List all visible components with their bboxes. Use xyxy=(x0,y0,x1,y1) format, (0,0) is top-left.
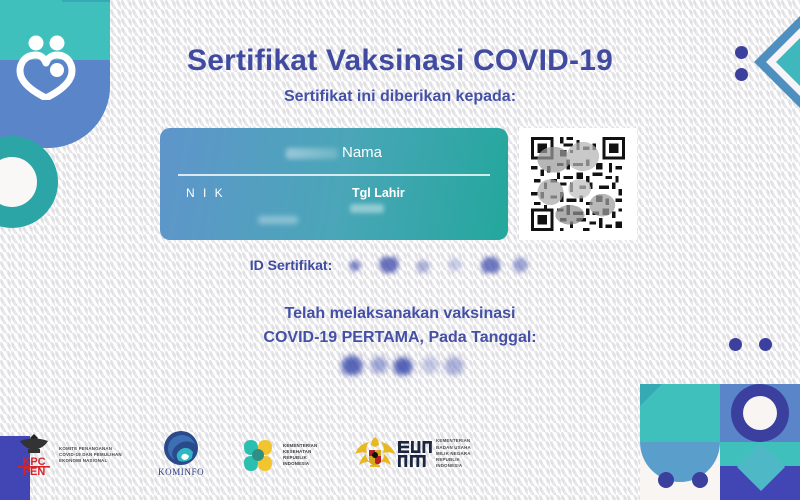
name-redacted-value xyxy=(286,148,338,159)
qr-code-icon xyxy=(528,137,628,231)
bumn-wordmark xyxy=(398,439,432,469)
garuda-kpcpen-icon: KPC PEN xyxy=(14,432,54,478)
dob-label: Tgl Lahir xyxy=(352,186,405,200)
bumn-caption-line-5: INDONESIA xyxy=(436,463,471,469)
nik-label: N I K xyxy=(186,186,225,200)
certificate-id-row: ID Sertifikat: xyxy=(0,256,800,274)
logo-kemenkes: KEMENTERIAN KESEHATAN REPUBLIK INDONESIA xyxy=(238,436,317,474)
logo-bumn: KEMENTERIAN BADAN USAHA MILIK NEGARA REP… xyxy=(352,434,471,474)
kominfo-wordmark: KOMINFO xyxy=(158,467,204,477)
vaccination-statement: Telah melaksanakan vaksinasi COVID-19 PE… xyxy=(0,302,800,350)
kemenkes-caption-line-1: KEMENTERIAN xyxy=(283,443,317,449)
card-divider xyxy=(178,174,490,176)
page-subtitle: Sertifikat ini diberikan kepada: xyxy=(0,88,800,106)
kpcpen-caption-line-3: EKONOMI NASIONAL xyxy=(59,458,122,464)
page-title: Sertifikat Vaksinasi COVID-19 xyxy=(0,44,800,78)
statement-line-1: Telah melaksanakan vaksinasi xyxy=(0,302,800,326)
name-field: Nama xyxy=(160,144,508,161)
logo-kominfo: KOMINFO xyxy=(158,430,204,477)
bumn-caption: KEMENTERIAN BADAN USAHA MILIK NEGARA REP… xyxy=(436,438,471,469)
certificate-id-label: ID Sertifikat: xyxy=(250,257,332,273)
certificate-id-redacted-value xyxy=(338,257,550,273)
qr-code-panel xyxy=(519,128,637,240)
bumn-caption-line-2: BADAN USAHA xyxy=(436,445,471,451)
identity-card: Nama N I K Tgl Lahir xyxy=(160,128,508,240)
logo-kpcpen: KPC PEN KOMITE PENANGANAN COVID-19 DAN P… xyxy=(14,432,122,478)
garuda-pancasila-icon xyxy=(352,434,398,474)
kpcpen-caption: KOMITE PENANGANAN COVID-19 DAN PEMULIHAN… xyxy=(59,446,122,465)
kemenkes-caption: KEMENTERIAN KESEHATAN REPUBLIK INDONESIA xyxy=(283,443,317,468)
kemenkes-caption-line-4: INDONESIA xyxy=(283,461,317,467)
vaccination-date-redacted-value xyxy=(325,355,475,375)
name-label: Nama xyxy=(342,144,382,161)
kominfo-swirl-icon xyxy=(163,430,199,466)
nik-redacted-value xyxy=(258,216,298,224)
footer-logos: KPC PEN KOMITE PENANGANAN COVID-19 DAN P… xyxy=(0,420,540,492)
bumn-caption-line-1: KEMENTERIAN xyxy=(436,438,471,444)
kemenkes-flower-icon xyxy=(238,436,278,474)
dob-redacted-value xyxy=(350,204,384,213)
statement-line-2: COVID-19 PERTAMA, Pada Tanggal: xyxy=(0,326,800,350)
svg-text:PEN: PEN xyxy=(23,466,46,478)
